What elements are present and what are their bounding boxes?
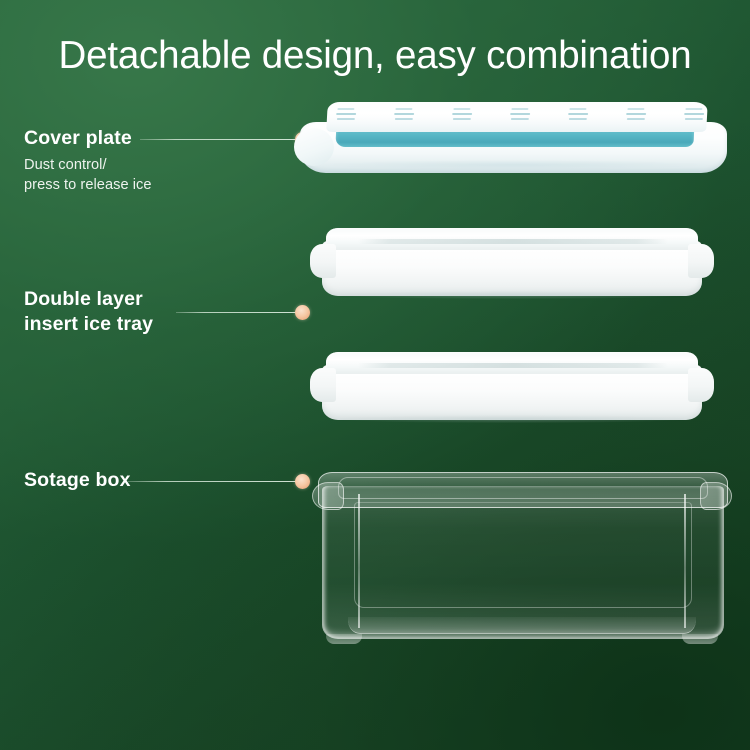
callout-ice-tray-title-line2: insert ice tray [24, 312, 153, 337]
ice-tray-upper-tab-right [688, 244, 714, 278]
ice-tray-lower-shadow [336, 415, 688, 423]
leader-line-ice-tray [176, 312, 302, 313]
storage-box-lug-right [700, 482, 732, 510]
cover-plate-press-buttons [333, 105, 706, 129]
storage-box-floor [348, 617, 696, 634]
press-button-icon [391, 105, 416, 127]
callout-ice-tray-title-line1: Double layer [24, 287, 153, 312]
press-button-icon [507, 105, 532, 127]
ice-tray-lower-tab-left [310, 368, 336, 402]
cover-plate-front-edge [314, 160, 714, 170]
storage-box-lug-left [312, 482, 344, 510]
product-ice-tray-lower [310, 352, 714, 420]
ice-tray-upper-ridge [358, 239, 668, 244]
press-button-icon [333, 105, 358, 127]
callout-cover-plate-subtitle-line2: press to release ice [24, 176, 152, 195]
ice-tray-upper-tab-left [310, 244, 336, 278]
product-storage-box [308, 468, 736, 650]
callout-cover-plate: Cover plate Dust control/ press to relea… [24, 126, 152, 196]
ice-tray-lower-tab-right [688, 368, 714, 402]
callout-sotage-box: Sotage box [24, 468, 131, 493]
ice-tray-lower-ridge [358, 363, 668, 368]
storage-box-corner-right [684, 494, 686, 628]
ice-tray-upper-shadow [336, 291, 688, 299]
callout-sotage-box-title: Sotage box [24, 468, 131, 493]
storage-box-corner-left [358, 494, 360, 628]
press-button-icon [681, 105, 706, 127]
press-button-icon [565, 105, 590, 127]
product-cover-plate [300, 100, 727, 173]
product-infographic: Detachable design, easy combination Cove… [0, 0, 750, 750]
storage-box-inner-wall [354, 502, 692, 608]
press-button-icon [449, 105, 474, 127]
callout-cover-plate-subtitle-line1: Dust control/ [24, 156, 152, 175]
storage-box-foot-left [326, 634, 362, 644]
page-title: Detachable design, easy combination [0, 33, 750, 78]
callout-cover-plate-title: Cover plate [24, 126, 152, 151]
storage-box-foot-right [682, 634, 718, 644]
callout-double-layer-insert-ice-tray: Double layer insert ice tray [24, 287, 153, 337]
connector-dot-ice-tray [295, 305, 310, 320]
storage-box-rim-inner [338, 477, 708, 499]
leader-line-cover-plate [140, 139, 302, 140]
press-button-icon [623, 105, 648, 127]
product-ice-tray-upper [310, 228, 714, 296]
leader-line-sotage-box [128, 481, 302, 482]
